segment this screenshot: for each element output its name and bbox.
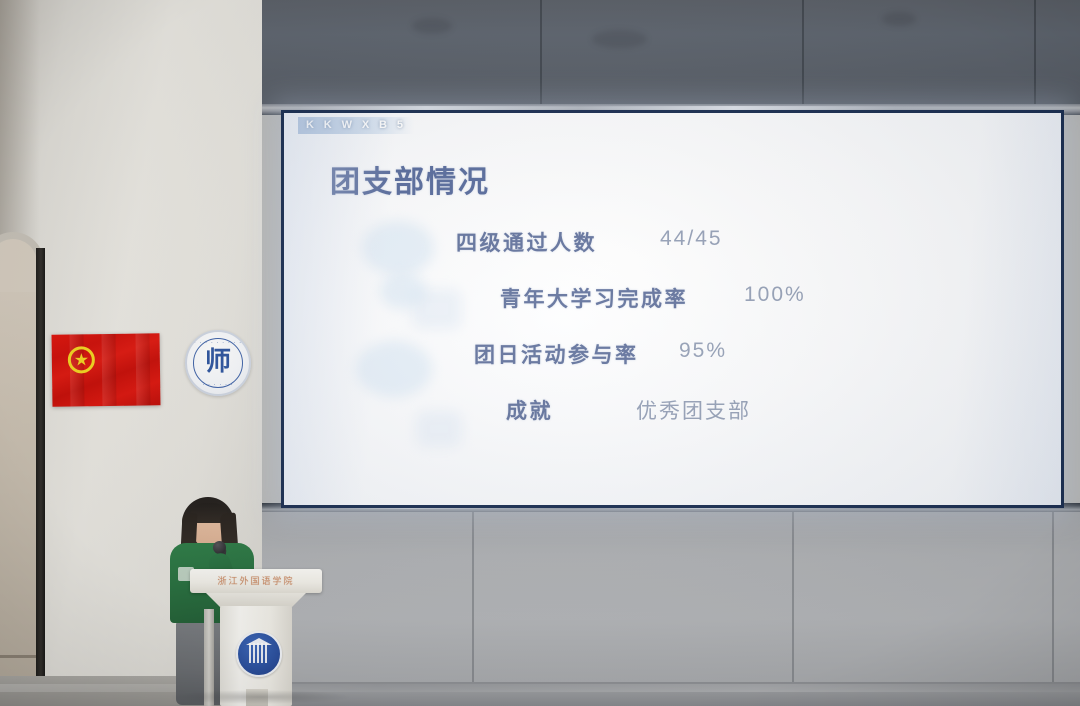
metric-value: 95% bbox=[679, 339, 727, 363]
metric-row: 四级通过人数 44/45 bbox=[284, 221, 1061, 278]
emblem-bottom-arc-text: · · · · · · bbox=[187, 382, 249, 388]
podium-desktop: 浙江外国语学院 bbox=[190, 569, 322, 593]
lower-light-wall bbox=[262, 512, 1080, 690]
slide-metrics-list: 四级通过人数 44/45 青年大学习完成率 100% 团日活动参与率 95% 成… bbox=[284, 221, 1061, 449]
metric-label: 成就 bbox=[506, 395, 553, 425]
youth-league-flag: ★ bbox=[52, 333, 161, 407]
doorway-inner-line bbox=[0, 655, 36, 658]
metric-label: 团日活动参与率 bbox=[474, 339, 639, 369]
photo-scene: K K W X B 5 团支部情况 四级通过人数 44/45 青年大学习完成率 … bbox=[0, 0, 1080, 706]
emblem-top-arc-text: · · · · · · · · · bbox=[187, 340, 249, 346]
metric-row: 青年大学习完成率 100% bbox=[284, 278, 1061, 335]
metric-label: 青年大学习完成率 bbox=[500, 283, 688, 313]
podium-floor-shadow bbox=[170, 690, 350, 704]
podium-emblem bbox=[236, 631, 282, 677]
metric-row: 成就 优秀团支部 bbox=[284, 392, 1061, 449]
podium-inscription: 浙江外国语学院 bbox=[190, 574, 322, 587]
metric-label: 四级通过人数 bbox=[456, 227, 597, 257]
podium: 浙江外国语学院 bbox=[190, 569, 322, 706]
doorway-frame bbox=[36, 248, 45, 693]
floor-reflection bbox=[0, 684, 1080, 692]
emblem-columns-icon bbox=[247, 643, 271, 663]
podium-neck bbox=[206, 593, 306, 607]
metric-value: 优秀团支部 bbox=[636, 395, 751, 425]
emblem-character: 师 bbox=[187, 348, 249, 376]
school-emblem: · · · · · · · · · 师 · · · · · · bbox=[185, 330, 251, 396]
projection-screen[interactable]: K K W X B 5 团支部情况 四级通过人数 44/45 青年大学习完成率 … bbox=[284, 113, 1061, 505]
slide-watermark-logo: K K W X B 5 bbox=[298, 117, 414, 134]
metric-row: 团日活动参与率 95% bbox=[284, 335, 1061, 392]
upper-dark-wall bbox=[262, 0, 1080, 114]
metric-value: 100% bbox=[744, 283, 806, 307]
slide-title: 团支部情况 bbox=[330, 157, 490, 201]
metric-value: 44/45 bbox=[660, 227, 723, 251]
